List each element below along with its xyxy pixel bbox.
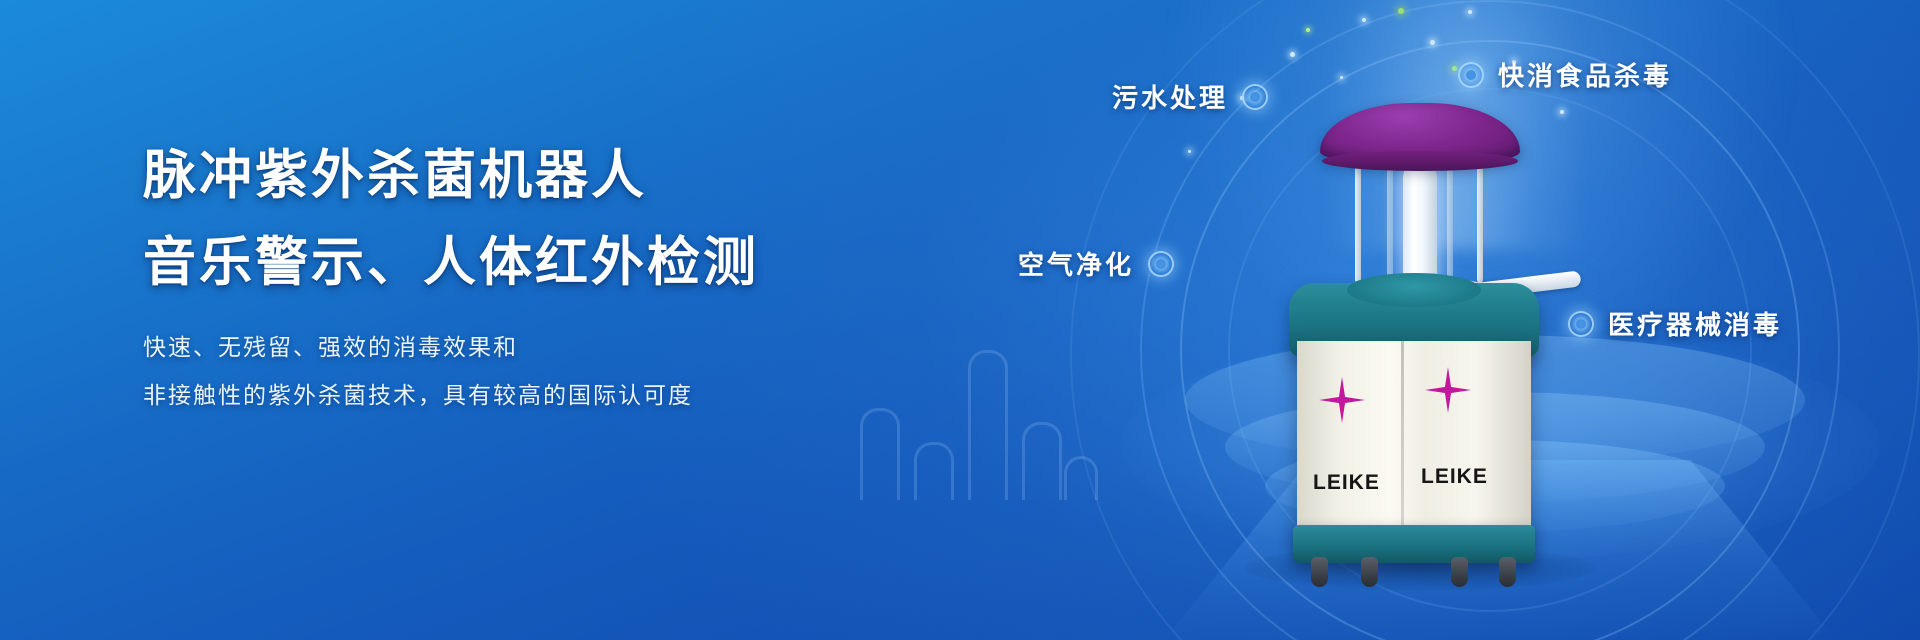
page-subtitle: 音乐警示、人体红外检测 — [143, 237, 843, 290]
feature-label-wastewater-treatment: 污水处理 — [1112, 78, 1268, 115]
lamp-support-rod — [1387, 159, 1393, 283]
uv-lamp-tube — [1403, 161, 1437, 281]
cabinet-body-corner-edge — [1401, 341, 1404, 537]
feature-label-text: 医疗器械消毒 — [1608, 305, 1782, 342]
description-line-2: 非接触性的紫外杀菌技术，具有较高的国际认可度 — [143, 382, 843, 411]
node-dot-icon — [1568, 311, 1594, 337]
sparkle-dot — [1430, 40, 1435, 45]
cabinet-body-panel — [1297, 341, 1531, 537]
soundwave-bars-decoration — [860, 250, 1100, 500]
description-line-1: 快速、无残留、强效的消毒效果和 — [143, 334, 843, 363]
hero-copy-block: 脉冲紫外杀菌机器人 音乐警示、人体红外检测 快速、无残留、强效的消毒效果和 非接… — [143, 150, 843, 430]
feature-label-air-purification: 空气净化 — [1018, 245, 1174, 282]
page-title: 脉冲紫外杀菌机器人 — [143, 150, 843, 203]
feature-label-medical-device-disinfection: 医疗器械消毒 — [1568, 305, 1782, 342]
sparkle-star-icon — [1425, 367, 1471, 413]
caster-wheel — [1499, 557, 1516, 587]
sparkle-star-icon — [1319, 377, 1365, 423]
sparkle-dot-green — [1306, 28, 1310, 32]
caster-wheel — [1451, 557, 1468, 587]
dome-rim — [1322, 151, 1518, 171]
sparkle-dot — [1188, 150, 1191, 153]
hero-description: 快速、无残留、强效的消毒效果和 非接触性的紫外杀菌技术，具有较高的国际认可度 — [143, 334, 843, 411]
feature-label-text: 空气净化 — [1018, 245, 1134, 282]
brand-logo-text: LEIKE — [1421, 465, 1488, 489]
caster-wheel — [1361, 557, 1378, 587]
sparkle-dot — [1362, 18, 1366, 22]
feature-label-fmcg-food-sterilization: 快消食品杀毒 — [1458, 56, 1672, 93]
lamp-support-rod — [1447, 159, 1453, 283]
node-dot-icon — [1458, 62, 1484, 88]
product-hero-banner: 脉冲紫外杀菌机器人 音乐警示、人体红外检测 快速、无残留、强效的消毒效果和 非接… — [0, 0, 1920, 640]
sparkle-dot — [1290, 52, 1295, 57]
lamp-support-rod — [1355, 159, 1361, 283]
feature-label-text: 污水处理 — [1112, 78, 1228, 115]
node-dot-icon — [1242, 84, 1268, 110]
brand-logo-text: LEIKE — [1313, 471, 1380, 495]
sparkle-dot-green — [1398, 8, 1404, 14]
feature-label-text: 快消食品杀毒 — [1498, 56, 1672, 93]
sparkle-dot — [1340, 76, 1343, 79]
node-dot-icon — [1148, 251, 1174, 277]
cabinet-base — [1293, 525, 1535, 563]
sparkle-dot-green — [1452, 66, 1457, 71]
uv-disinfection-robot-illustration: LEIKE LEIKE — [1275, 95, 1565, 575]
lamp-support-rod — [1477, 159, 1483, 283]
sparkle-dot — [1468, 10, 1472, 14]
caster-wheel — [1311, 557, 1328, 587]
